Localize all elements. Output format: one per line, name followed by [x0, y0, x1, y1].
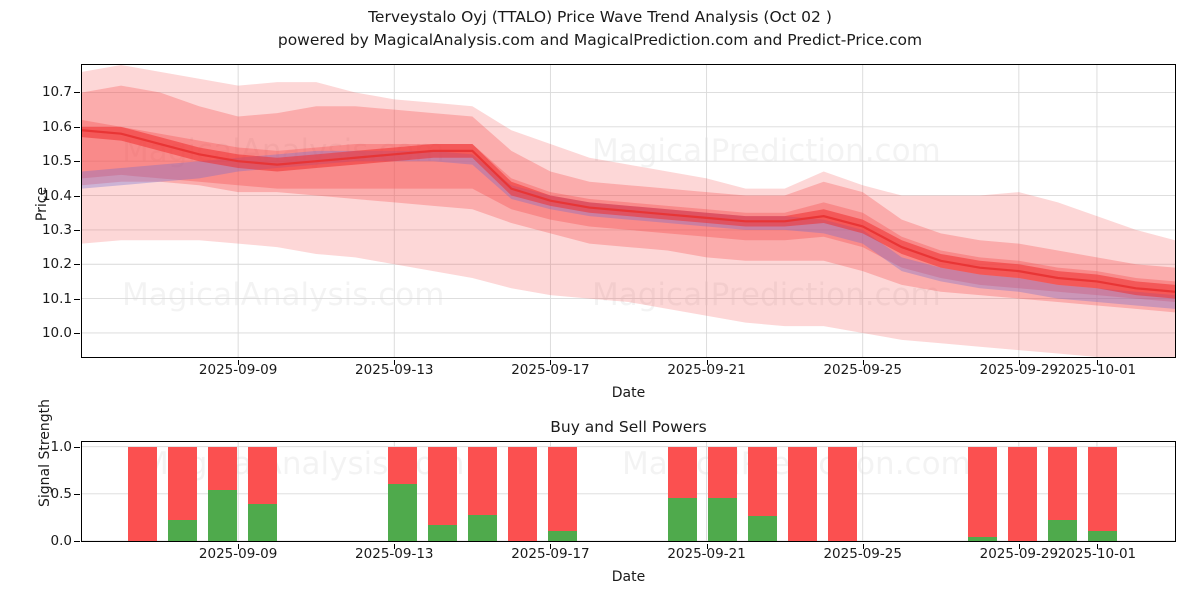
signal-x-axis-label: Date: [81, 569, 1176, 585]
sell-power-segment: [388, 447, 417, 485]
sell-power-segment: [508, 447, 537, 541]
sell-power-segment: [428, 447, 457, 525]
signal-bar[interactable]: [828, 447, 857, 541]
price-y-tick: [74, 127, 80, 128]
price-x-tick: [238, 360, 239, 365]
price-y-tick: [74, 264, 80, 265]
page-subtitle: powered by MagicalAnalysis.com and Magic…: [0, 31, 1200, 49]
signal-x-axis: 2025-09-092025-09-132025-09-172025-09-21…: [81, 544, 1176, 566]
buy-power-segment: [248, 504, 277, 541]
price-y-tick: [74, 299, 80, 300]
signal-bar[interactable]: [548, 447, 577, 541]
price-y-tick: [74, 161, 80, 162]
price-y-tick-label: 10.7: [42, 84, 72, 100]
buy-power-segment: [968, 537, 997, 541]
price-y-tick-label: 10.4: [42, 188, 72, 204]
sell-power-segment: [468, 447, 497, 515]
price-x-tick: [394, 360, 395, 365]
signal-chart-title: Buy and Sell Powers: [81, 418, 1176, 436]
price-x-axis: 2025-09-092025-09-132025-09-172025-09-21…: [81, 360, 1176, 382]
price-x-axis-label: Date: [81, 385, 1176, 401]
signal-y-tick: [74, 494, 80, 495]
sell-power-segment: [1008, 447, 1037, 541]
signal-x-tick: [550, 544, 551, 549]
sell-power-segment: [168, 447, 197, 521]
signal-bar[interactable]: [168, 447, 197, 541]
sell-power-segment: [248, 447, 277, 505]
sell-power-segment: [788, 447, 817, 541]
buy-power-segment: [1048, 520, 1077, 541]
sell-power-segment: [708, 447, 737, 498]
signal-y-tick: [74, 447, 80, 448]
signal-bar[interactable]: [968, 447, 997, 541]
signal-bar[interactable]: [428, 447, 457, 541]
buy-power-segment: [1088, 531, 1117, 541]
signal-bar[interactable]: [128, 447, 157, 541]
price-y-tick-label: 10.1: [42, 291, 72, 307]
buy-power-segment: [388, 484, 417, 541]
price-wave-plot: [82, 65, 1175, 357]
buy-sell-powers-chart: MagicalAnalysis.com MagicalPrediction.co…: [81, 441, 1176, 542]
buy-power-segment: [708, 498, 737, 541]
page-title: Terveystalo Oyj (TTALO) Price Wave Trend…: [0, 8, 1200, 26]
signal-bar[interactable]: [1008, 447, 1037, 541]
price-y-tick: [74, 230, 80, 231]
signal-x-tick: [238, 544, 239, 549]
sell-power-segment: [548, 447, 577, 531]
sell-power-segment: [1088, 447, 1117, 531]
price-x-tick: [707, 360, 708, 365]
signal-bar[interactable]: [788, 447, 817, 541]
sell-power-segment: [1048, 447, 1077, 521]
sell-power-segment: [208, 447, 237, 490]
signal-bar[interactable]: [1048, 447, 1077, 541]
signal-bar[interactable]: [708, 447, 737, 541]
signal-y-tick-label: 0.5: [51, 486, 72, 502]
sell-power-segment: [128, 447, 157, 541]
sell-power-segment: [828, 447, 857, 541]
price-y-tick: [74, 196, 80, 197]
signal-bar[interactable]: [468, 447, 497, 541]
price-x-tick: [863, 360, 864, 365]
buy-power-segment: [748, 516, 777, 541]
price-y-tick: [74, 333, 80, 334]
signal-bar[interactable]: [248, 447, 277, 541]
price-y-tick: [74, 92, 80, 93]
signal-x-tick: [1019, 544, 1020, 549]
signal-bar[interactable]: [508, 447, 537, 541]
sell-power-segment: [968, 447, 997, 538]
signal-x-tick: [707, 544, 708, 549]
sell-power-segment: [748, 447, 777, 516]
signal-bar-group: [82, 442, 1175, 541]
signal-y-tick-label: 0.0: [51, 533, 72, 549]
signal-bar[interactable]: [668, 447, 697, 541]
buy-power-segment: [468, 515, 497, 541]
signal-bar[interactable]: [748, 447, 777, 541]
price-x-tick: [1019, 360, 1020, 365]
signal-x-tick: [394, 544, 395, 549]
price-y-tick-label: 10.2: [42, 256, 72, 272]
signal-x-tick: [1097, 544, 1098, 549]
signal-bar[interactable]: [1088, 447, 1117, 541]
buy-power-segment: [548, 531, 577, 541]
signal-y-tick: [74, 541, 80, 542]
signal-bar[interactable]: [208, 447, 237, 541]
price-y-tick-label: 10.0: [42, 325, 72, 341]
price-x-tick: [1097, 360, 1098, 365]
signal-bar[interactable]: [388, 447, 417, 541]
buy-power-segment: [668, 498, 697, 541]
price-y-tick-label: 10.5: [42, 153, 72, 169]
price-wave-chart: MagicalAnalysis.com MagicalPrediction.co…: [81, 64, 1176, 358]
buy-power-segment: [168, 520, 197, 541]
sell-power-segment: [668, 447, 697, 498]
signal-y-axis: 0.00.51.0: [0, 441, 72, 542]
price-x-tick: [550, 360, 551, 365]
price-y-axis: 10.010.110.210.310.410.510.610.7: [0, 64, 72, 358]
buy-power-segment: [208, 490, 237, 541]
signal-y-tick-label: 1.0: [51, 439, 72, 455]
buy-power-segment: [428, 525, 457, 541]
price-y-tick-label: 10.6: [42, 119, 72, 135]
price-y-tick-label: 10.3: [42, 222, 72, 238]
signal-x-tick: [863, 544, 864, 549]
